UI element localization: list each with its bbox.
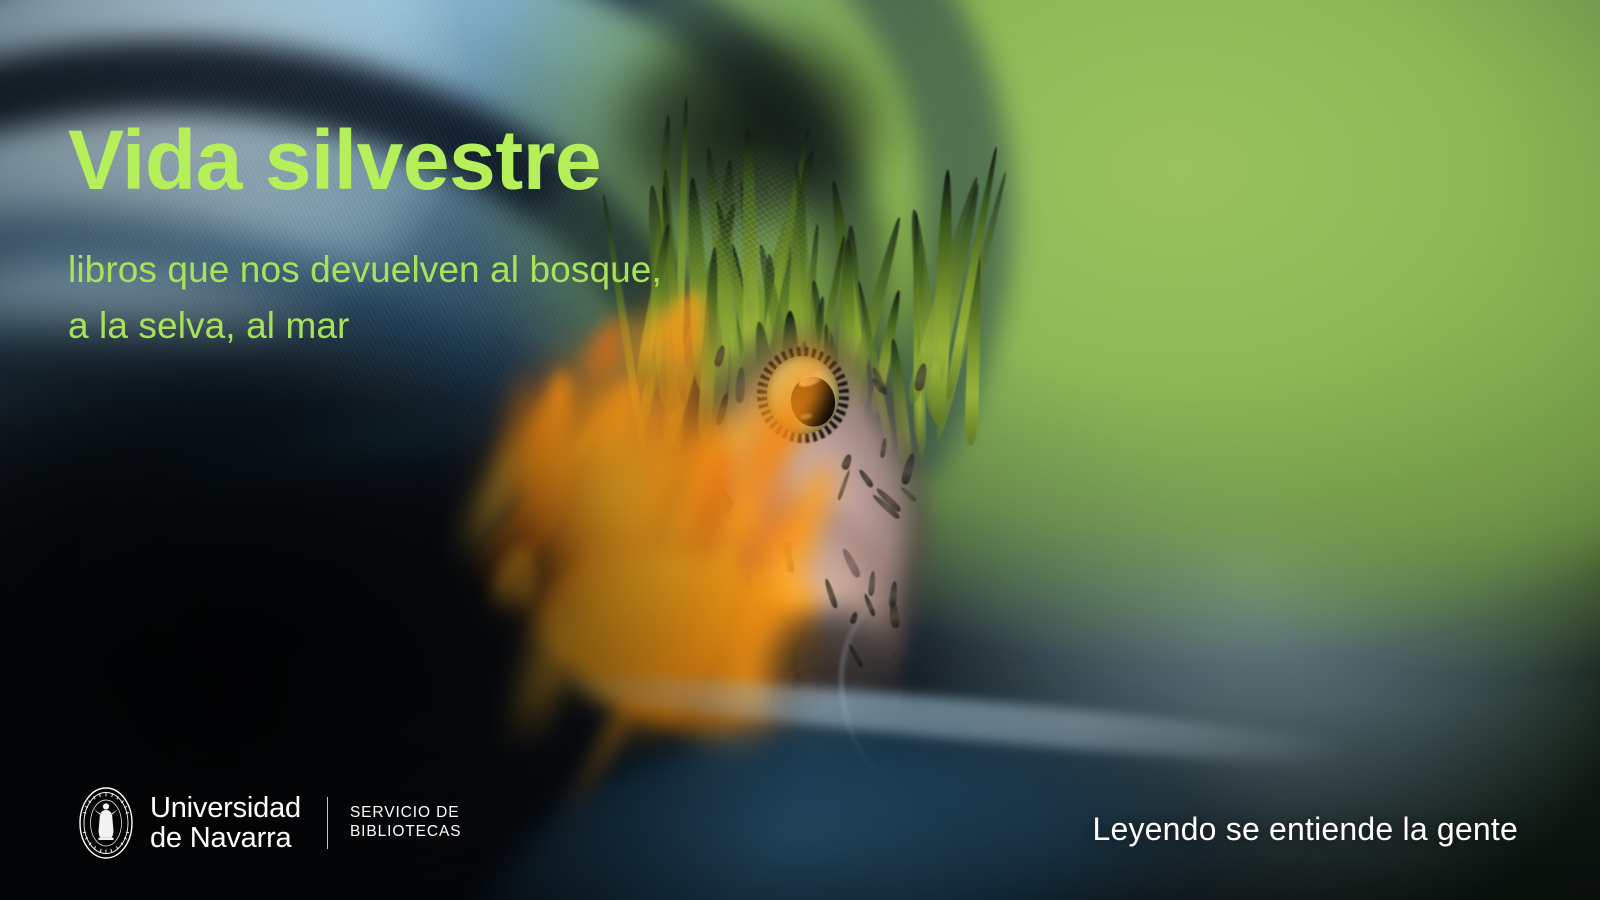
library-service-name: SERVICIO DE BIBLIOTECAS — [350, 804, 462, 842]
page-title: Vida silvestre — [68, 118, 601, 202]
poster-canvas: Vida silvestre libros que nos devuelven … — [0, 0, 1600, 900]
university-seal-icon — [78, 786, 134, 860]
logo-divider — [327, 797, 328, 849]
logo-lockup[interactable]: Universidad de Navarra SERVICIO DE BIBLI… — [78, 786, 461, 860]
tagline: Leyendo se entiende la gente — [1092, 811, 1518, 848]
subtitle: libros que nos devuelven al bosque, a la… — [68, 242, 662, 354]
university-name: Universidad de Navarra — [150, 793, 301, 853]
